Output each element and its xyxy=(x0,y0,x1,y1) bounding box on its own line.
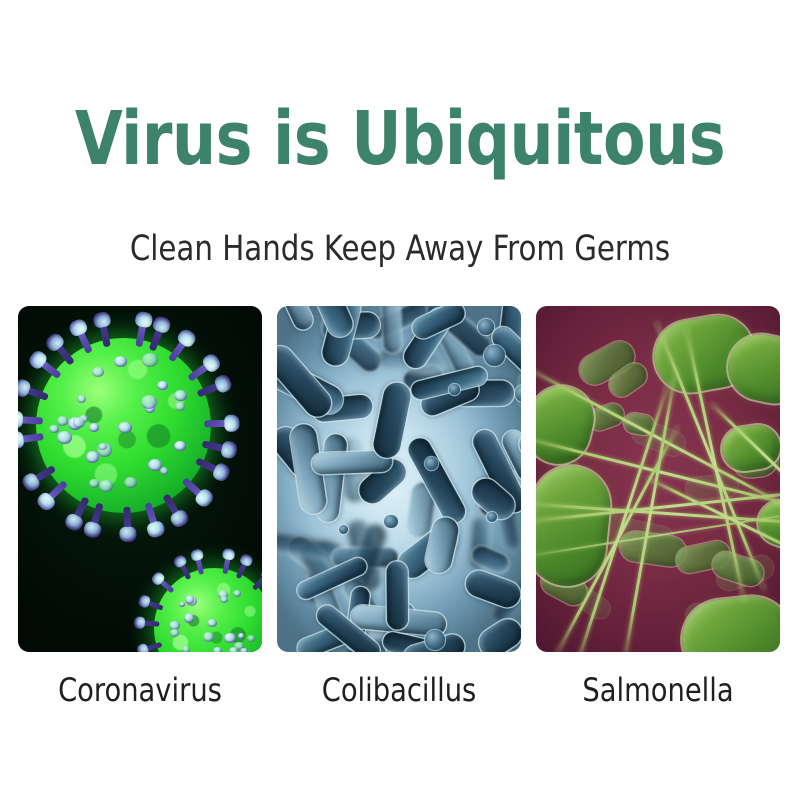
virion-surface-knob xyxy=(247,635,255,642)
salmonella-cell-large xyxy=(678,592,780,652)
spike-knob xyxy=(18,430,25,449)
salmonella-cell-large xyxy=(752,495,780,553)
virion-spike xyxy=(143,618,159,630)
colibacillus-rod-layer xyxy=(277,306,521,652)
virion-surface-knob xyxy=(124,477,137,488)
caption-coronavirus: Coronavirus xyxy=(24,668,256,712)
virion-surface-knob xyxy=(240,648,247,652)
bacterium-end-on xyxy=(384,515,397,528)
spike-knob xyxy=(119,526,137,542)
colibacillus-illustration xyxy=(277,306,521,652)
page-title: Virus is Ubiquitous xyxy=(28,96,772,182)
bacterium-end-on xyxy=(478,319,494,335)
virion-surface-knob xyxy=(174,390,187,402)
virion-surface-knob xyxy=(160,467,169,475)
virion-surface-knob xyxy=(142,353,158,367)
coronavirus-virion-large xyxy=(36,338,211,513)
spike-knob xyxy=(133,616,145,629)
caption-colibacillus: Colibacillus xyxy=(283,668,515,712)
virion-surface-knob xyxy=(114,356,127,367)
bacterium-rod xyxy=(462,567,521,611)
virion-surface-knob xyxy=(92,367,104,377)
coronavirus-illustration xyxy=(18,306,262,652)
caption-salmonella: Salmonella xyxy=(542,668,774,712)
virion-surface-knob xyxy=(98,443,106,450)
virion-surface-knob xyxy=(49,425,59,433)
salmonella-cell-layer xyxy=(536,306,780,652)
spike-knob xyxy=(224,414,239,431)
spike-stalk xyxy=(251,574,262,591)
virion-surface-knob xyxy=(157,381,168,391)
virion-spike xyxy=(204,415,246,431)
salmonella-illustration xyxy=(536,306,780,652)
bacterium-rod xyxy=(381,306,402,353)
spike-knob xyxy=(18,410,23,428)
virion-surface-knob xyxy=(213,647,222,652)
bacterium-end-on xyxy=(487,512,497,522)
germ-image-row xyxy=(18,306,784,652)
salmonella-cell-large xyxy=(536,379,600,470)
virion-surface-knob xyxy=(182,646,189,652)
virion-surface-knob xyxy=(184,613,195,622)
bacterium-end-on xyxy=(339,525,348,534)
spike-knob xyxy=(189,548,203,561)
virion-spike xyxy=(18,411,43,429)
bacterium-rod xyxy=(277,306,315,333)
spike-knob xyxy=(221,548,235,561)
virion-surface-knob xyxy=(118,422,132,434)
germ-image-salmonella xyxy=(536,306,780,652)
virion-surface-knob xyxy=(174,441,185,451)
germ-caption-row: Coronavirus Colibacillus Salmonella xyxy=(18,668,784,718)
poster-canvas: Virus is Ubiquitous Clean Hands Keep Awa… xyxy=(0,0,800,800)
virion-surface-knob xyxy=(175,402,185,411)
bacterium-end-on xyxy=(484,345,505,366)
virion-spike xyxy=(119,506,136,549)
virion-surface-knob xyxy=(89,479,99,487)
page-subtitle: Clean Hands Keep Away From Germs xyxy=(28,228,772,270)
germ-image-colibacillus xyxy=(277,306,521,652)
bacterium-end-on xyxy=(515,385,521,402)
bacterium-end-on xyxy=(425,630,445,650)
bacterium-end-on xyxy=(449,384,460,395)
virion-surface-knob xyxy=(57,431,72,444)
virion-spike xyxy=(219,557,233,574)
bacterium-rod xyxy=(371,380,413,460)
virion-surface-knob xyxy=(238,633,245,639)
germ-image-coronavirus xyxy=(18,306,262,652)
virion-surface-knob xyxy=(207,619,216,627)
virion-surface-knob xyxy=(229,647,238,652)
virion-surface-knob xyxy=(185,595,195,604)
coronavirus-virion-small xyxy=(154,568,262,652)
virion-surface-knob xyxy=(141,395,157,409)
bacterium-rod xyxy=(386,561,408,630)
spike-knob xyxy=(134,310,154,328)
virion-surface-knob xyxy=(224,633,235,643)
